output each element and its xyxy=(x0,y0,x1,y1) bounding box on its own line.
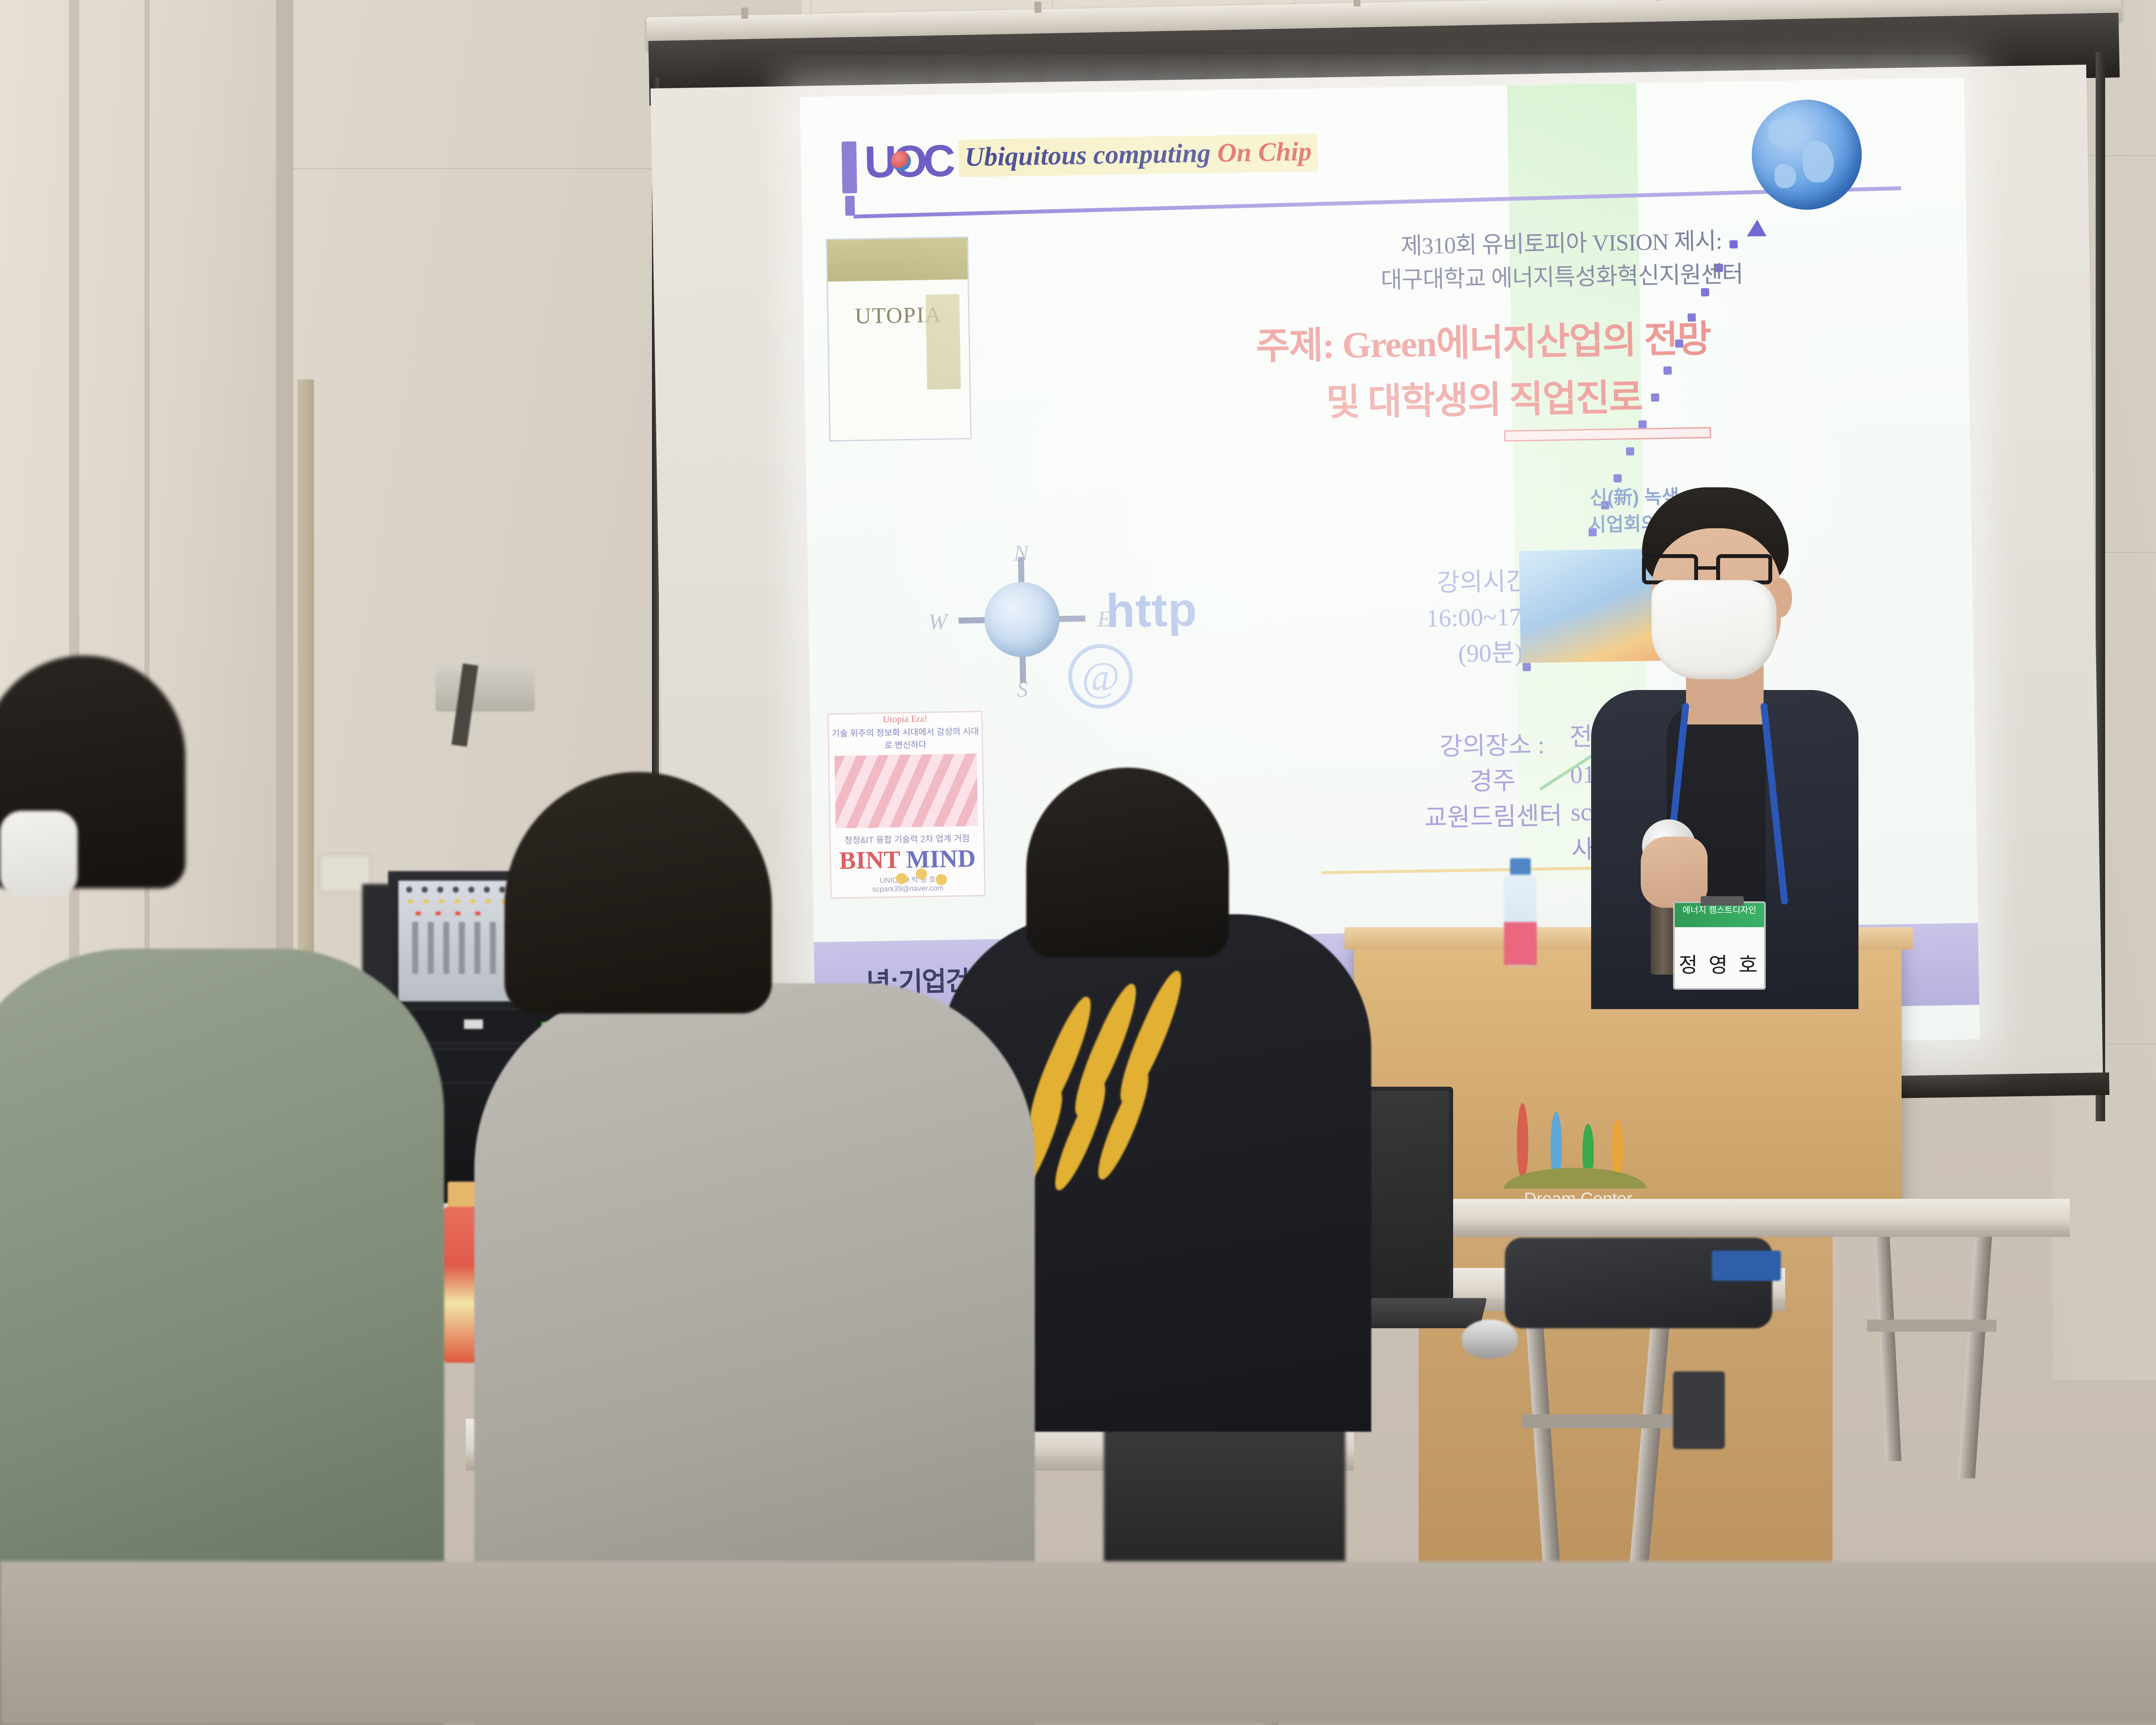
blue-pouch[interactable] xyxy=(1712,1251,1781,1281)
desk-back-right-edge xyxy=(1453,1226,2070,1237)
water-bottle-podium[interactable] xyxy=(1501,858,1540,966)
badge-clip xyxy=(1701,896,1744,906)
audience-member-1-mask xyxy=(0,811,78,897)
name-badge: 에너지 캠스트디자인 정 영 호 xyxy=(1673,901,1766,990)
dream-figure-blue xyxy=(1551,1112,1562,1176)
dream-center-logo: Dream Center xyxy=(1496,1091,1660,1199)
badge-name: 정 영 호 xyxy=(1675,927,1764,978)
presenter-hand xyxy=(1641,837,1708,908)
badge-organization: 에너지 캠스트디자인 xyxy=(1675,903,1764,927)
wall-tile-line-4 xyxy=(2109,1044,2156,1044)
desk-crossbar-1 xyxy=(1867,1320,1996,1332)
dream-figure-red xyxy=(1517,1103,1528,1176)
lecture-hall-scene: UOC Ubiquitous computing On Chip xyxy=(0,0,2156,1725)
dream-figure-orange xyxy=(1612,1120,1623,1176)
face-mask xyxy=(1651,580,1777,679)
desk-crossbar-2 xyxy=(1522,1414,1673,1428)
floor xyxy=(0,1561,2156,1725)
computer-mouse[interactable] xyxy=(1462,1320,1518,1358)
floor-power-box xyxy=(1673,1371,1725,1449)
presenter: 에너지 캠스트디자인 정 영 호 xyxy=(1565,487,1910,1005)
desk-back-right xyxy=(1453,1199,2070,1226)
ceiling-speaker xyxy=(436,660,535,712)
